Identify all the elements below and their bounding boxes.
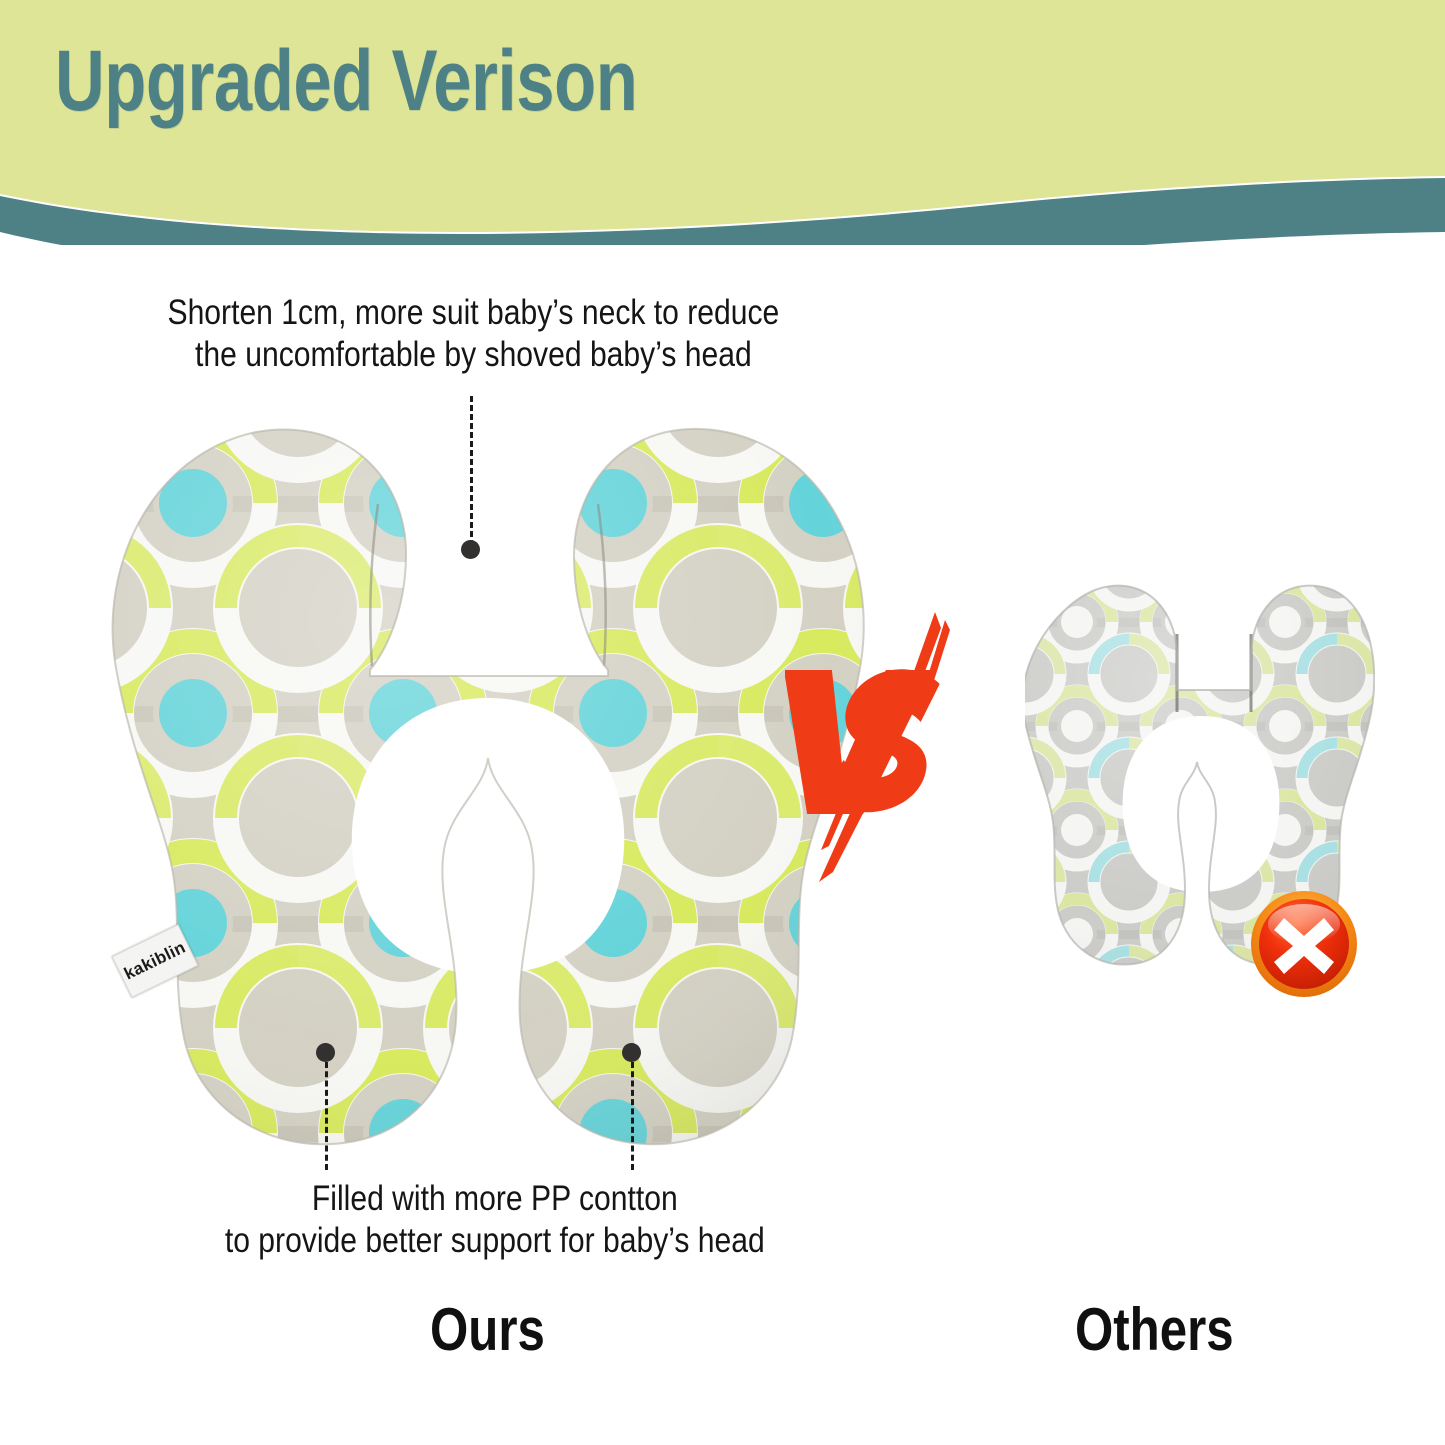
- infographic-canvas: Upgraded Verison Shorten 1cm, more suit …: [0, 0, 1445, 1445]
- leader-line-bottom-right: [631, 1062, 634, 1170]
- header-banner: Upgraded Verison: [0, 0, 1445, 245]
- label-others: Others: [1075, 1295, 1234, 1364]
- dot-marker-bottom-right: [622, 1043, 641, 1062]
- annotation-top-text: Shorten 1cm, more suit baby’s neck to re…: [95, 292, 852, 376]
- others-neck-opening: [1123, 716, 1280, 892]
- product-image-ours: [88, 398, 888, 1158]
- page-title: Upgraded Verison: [55, 38, 637, 124]
- dot-marker-bottom-left: [316, 1043, 335, 1062]
- vs-graphic: [785, 600, 995, 890]
- label-ours: Ours: [430, 1295, 545, 1364]
- others-x-badge: [1248, 888, 1360, 1000]
- annotation-bottom-text: Filled with more PP contton to provide b…: [125, 1178, 865, 1262]
- ours-neck-opening: [352, 698, 624, 974]
- leader-line-bottom-left: [325, 1062, 328, 1170]
